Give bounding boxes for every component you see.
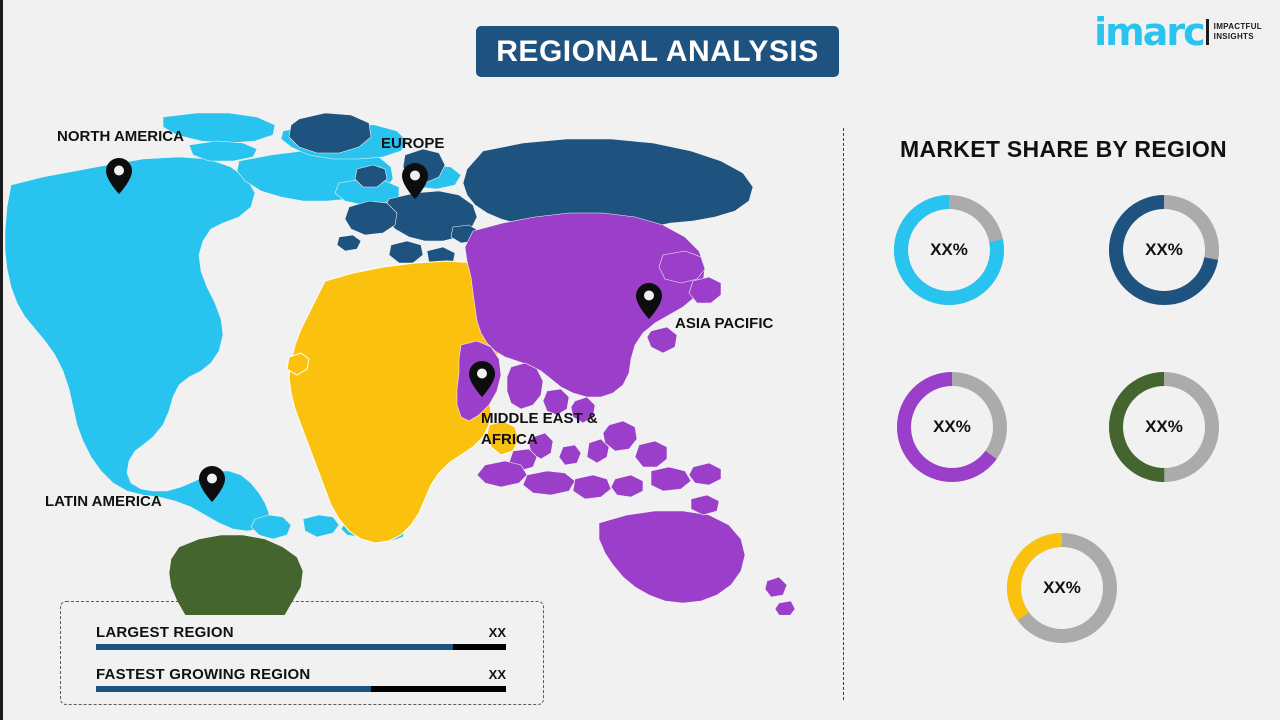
- donut-chart-north-america: XX%: [890, 191, 1008, 309]
- logo-divider-bar: [1206, 19, 1209, 45]
- legend-value-largest-region: XX: [489, 625, 506, 640]
- logo-wordmark: imarc: [1094, 13, 1204, 51]
- donut-label-latin-america: XX%: [1105, 368, 1223, 486]
- donut-chart-middle-east-africa: XX%: [1003, 529, 1121, 647]
- page-title: REGIONAL ANALYSIS: [496, 35, 818, 69]
- donut-label-europe: XX%: [1105, 191, 1223, 309]
- map-label-asia-pacific: ASIA PACIFIC: [675, 313, 773, 334]
- map-label-europe: EUROPE: [381, 133, 444, 154]
- map-label-latin-america: LATIN AMERICA: [45, 491, 162, 512]
- market-share-title: MARKET SHARE BY REGION: [844, 136, 1280, 163]
- donut-chart-europe: XX%: [1105, 191, 1223, 309]
- map-pin-north-america[interactable]: [106, 158, 132, 199]
- donut-label-middle-east-africa: XX%: [1003, 529, 1121, 647]
- legend-value-fastest-growing-region: XX: [489, 667, 506, 682]
- donut-label-north-america: XX%: [890, 191, 1008, 309]
- donut-label-asia-pacific: XX%: [893, 368, 1011, 486]
- logo-tagline: IMPACTFUL INSIGHTS: [1214, 22, 1262, 42]
- map-label-middle-east-africa: MIDDLE EAST & AFRICA: [481, 408, 598, 450]
- legend-bar-fastest-growing-region: [96, 686, 506, 692]
- legend-bar-fill: [96, 686, 371, 692]
- regional-analysis-infographic: REGIONAL ANALYSIS imarc IMPACTFUL INSIGH…: [0, 0, 1280, 720]
- map-pin-europe[interactable]: [402, 163, 428, 204]
- legend-bar-largest-region: [96, 644, 506, 650]
- donut-chart-asia-pacific: XX%: [893, 368, 1011, 486]
- logo-tagline-line2: INSIGHTS: [1214, 32, 1262, 42]
- map-label-north-america: NORTH AMERICA: [57, 126, 184, 147]
- market-share-panel: MARKET SHARE BY REGION XX% XX% XX%: [844, 120, 1280, 710]
- legend-label-largest-region: LARGEST REGION: [96, 624, 234, 641]
- page-title-banner: REGIONAL ANALYSIS: [476, 26, 839, 77]
- donut-chart-latin-america: XX%: [1105, 368, 1223, 486]
- map-pin-latin-america[interactable]: [199, 466, 225, 507]
- map-pin-middle-east-africa[interactable]: [469, 361, 495, 402]
- imarc-logo: imarc IMPACTFUL INSIGHTS: [1094, 12, 1262, 52]
- legend-label-fastest-growing-region: FASTEST GROWING REGION: [96, 666, 310, 683]
- legend-bar-fill: [96, 644, 453, 650]
- logo-tagline-line1: IMPACTFUL: [1214, 22, 1262, 32]
- legend-row-fastest-growing-region: FASTEST GROWING REGION XX: [96, 666, 506, 692]
- legend-row-largest-region: LARGEST REGION XX: [96, 624, 506, 650]
- map-pin-asia-pacific[interactable]: [636, 283, 662, 324]
- region-legend-box: LARGEST REGION XX FASTEST GROWING REGION…: [60, 601, 544, 705]
